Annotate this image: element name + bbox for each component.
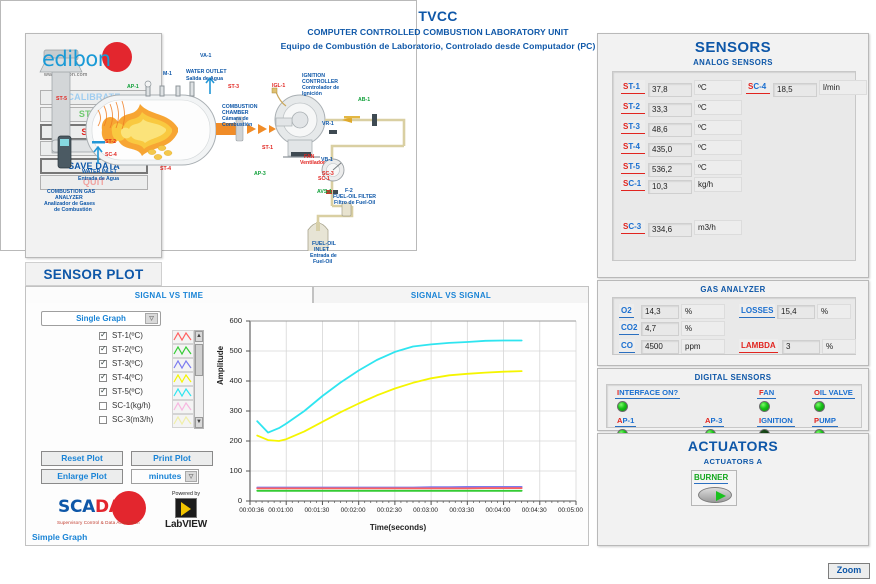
gas-value: 4500 bbox=[641, 340, 679, 354]
sensor-value: 536,2 bbox=[648, 163, 692, 177]
graph-mode-value: Single Graph bbox=[76, 314, 126, 323]
legend-label: ST-1(ºC) bbox=[112, 331, 143, 340]
tab-label: SIGNAL VS TIME bbox=[135, 291, 204, 300]
legend-row: ST-4(ºC) bbox=[71, 372, 194, 386]
scroll-down-icon[interactable]: ▼ bbox=[195, 417, 203, 428]
legend-scrollbar[interactable]: ▲ ▼ bbox=[194, 330, 204, 429]
simple-graph-label: Simple Graph bbox=[32, 532, 87, 542]
diagram-label: SC-1 bbox=[318, 177, 330, 183]
legend-label: ST-4(ºC) bbox=[112, 373, 143, 382]
actuators-title: ACTUATORS bbox=[598, 438, 868, 454]
labview-icon bbox=[175, 498, 197, 518]
plot-body: Single Graph ▽ ST-1(ºC)ST-2(ºC)ST-3(ºC)S… bbox=[25, 303, 589, 546]
diagram-label: VA-1 bbox=[200, 54, 211, 60]
sensor-value: 48,6 bbox=[648, 123, 692, 137]
gas-analyzer-title: GAS ANALYZER bbox=[598, 285, 868, 294]
sensor-unit: kg/h bbox=[694, 177, 742, 192]
sensor-value: 10,3 bbox=[648, 180, 692, 194]
diagram-label: IGL-1 bbox=[272, 84, 285, 90]
legend-checkbox[interactable] bbox=[99, 360, 107, 368]
chart-y-tick-label: 600 bbox=[222, 316, 242, 325]
diagram-label: M-1 bbox=[163, 72, 172, 78]
sensor-tag: ST-4 bbox=[621, 140, 645, 154]
gas-tag: O2 bbox=[619, 304, 634, 318]
chart-x-tick-label: 00:02:30 bbox=[377, 507, 402, 514]
sensor-value: 33,3 bbox=[648, 103, 692, 117]
diagram-label: VR-1 bbox=[322, 122, 334, 128]
tab-signal-vs-signal[interactable]: SIGNAL VS SIGNAL bbox=[313, 286, 589, 304]
plot-tabstrip: SIGNAL VS TIMESIGNAL VS SIGNAL bbox=[25, 286, 589, 304]
logo-wordmark: edibon bbox=[42, 47, 111, 71]
chart-canvas bbox=[214, 313, 582, 539]
sensor-value: 334,6 bbox=[648, 223, 692, 237]
chart-x-axis-label: Time(seconds) bbox=[214, 523, 582, 532]
digital-sensors-panel: DIGITAL SENSORS INTERFACE ON?FANOIL VALV… bbox=[597, 368, 869, 431]
chart-y-tick-label: 500 bbox=[222, 346, 242, 355]
enlarge-plot-button[interactable]: Enlarge Plot bbox=[41, 469, 123, 484]
sensor-unit: ºC bbox=[694, 80, 742, 95]
labview-name: LabVIEW bbox=[158, 519, 214, 530]
reset-plot-button[interactable]: Reset Plot bbox=[41, 451, 123, 466]
diagram-label: Combustión bbox=[222, 123, 252, 129]
sensor-value: 435,0 bbox=[648, 143, 692, 157]
gas-analyzer-panel: GAS ANALYZER O214,3%LOSSES15,4%CO24,7%CO… bbox=[597, 280, 869, 366]
legend-color-swatch[interactable] bbox=[172, 400, 194, 414]
actuators-panel: ACTUATORS ACTUATORS A BURNER bbox=[597, 433, 869, 546]
diagram-label: ST-4 bbox=[160, 167, 171, 173]
sensor-tag: ST-1 bbox=[621, 80, 645, 94]
diagram-label: ST-1 bbox=[262, 146, 273, 152]
diagram-label: de Combustión bbox=[54, 208, 92, 214]
chart-y-tick-label: 400 bbox=[222, 376, 242, 385]
digital-sensor-label: INTERFACE ON? bbox=[615, 387, 680, 399]
status-led bbox=[814, 401, 825, 412]
gas-unit-secondary: % bbox=[817, 304, 851, 319]
labview-powered-by: Powered by bbox=[158, 491, 214, 497]
digital-sensor-label: FAN bbox=[757, 387, 776, 399]
chart-x-tick-label: 00:04:30 bbox=[522, 507, 547, 514]
tab-signal-vs-time[interactable]: SIGNAL VS TIME bbox=[25, 286, 313, 304]
tab-label: SIGNAL VS SIGNAL bbox=[411, 291, 491, 300]
scrollbar-thumb[interactable] bbox=[195, 344, 203, 376]
sensor-tag: SC-4 bbox=[746, 80, 770, 94]
analog-sensors-group: ST-137,8ºCST-233,3ºCST-348,6ºCST-4435,0º… bbox=[612, 71, 856, 261]
sensor-tag: SC-1 bbox=[621, 177, 645, 191]
chart-x-tick-label: 00:03:00 bbox=[413, 507, 438, 514]
gas-unit: % bbox=[681, 321, 725, 336]
legend-row: ST-5(ºC) bbox=[71, 386, 194, 400]
process-diagram-panel: TVCC COMPUTER CONTROLLED COMBUSTION LABO… bbox=[0, 0, 417, 251]
print-plot-button[interactable]: Print Plot bbox=[131, 451, 213, 466]
legend-label: ST-3(ºC) bbox=[112, 359, 143, 368]
sensors-panel: SENSORS ANALOG SENSORS ST-137,8ºCST-233,… bbox=[597, 33, 869, 278]
chart-x-tick-label: 00:05:00 bbox=[558, 507, 583, 514]
sensor-plot-title: SENSOR PLOT bbox=[25, 262, 162, 286]
diagram-label: Filtro de Fuel-Oil bbox=[334, 201, 375, 207]
chevron-down-icon: ▽ bbox=[145, 313, 158, 324]
sensor-tag: ST-2 bbox=[621, 100, 645, 114]
gas-unit-secondary: % bbox=[822, 339, 856, 354]
time-units-select[interactable]: minutes ▽ bbox=[131, 469, 199, 484]
chart-y-tick-label: 0 bbox=[222, 496, 242, 505]
diagram-label: ST-5 bbox=[56, 97, 67, 103]
diagram-label: VB-1 bbox=[321, 158, 333, 164]
legend-checkbox[interactable] bbox=[99, 332, 107, 340]
digital-sensor-label: AP-1 bbox=[615, 415, 636, 427]
diagram-label: ST-2 bbox=[105, 140, 116, 146]
burner-label: BURNER bbox=[694, 472, 728, 484]
gas-unit: % bbox=[681, 304, 725, 319]
legend-color-swatch[interactable] bbox=[172, 372, 194, 386]
legend-label: ST-2(ºC) bbox=[112, 345, 143, 354]
legend-color-swatch[interactable] bbox=[172, 386, 194, 400]
legend-color-swatch[interactable] bbox=[172, 358, 194, 372]
diagram-label: AP-3 bbox=[254, 172, 266, 178]
legend-color-swatch[interactable] bbox=[172, 330, 194, 344]
legend-row: ST-1(ºC) bbox=[71, 330, 194, 344]
signal-vs-time-chart: Amplitude 0100200300400500600 00:00:3600… bbox=[214, 313, 582, 539]
diagram-label: AP-1 bbox=[127, 85, 139, 91]
sensor-unit: ºC bbox=[694, 140, 742, 155]
legend-row: SC-1(kg/h) bbox=[71, 400, 194, 414]
gas-value-secondary: 3 bbox=[782, 340, 820, 354]
sensor-unit: m3/h bbox=[694, 220, 742, 235]
diagram-label: SC-4 bbox=[105, 153, 117, 159]
burner-toggle[interactable]: BURNER bbox=[691, 470, 737, 506]
burner-knob[interactable] bbox=[698, 487, 732, 503]
status-led bbox=[617, 401, 628, 412]
graph-mode-select[interactable]: Single Graph ▽ bbox=[41, 311, 161, 326]
actuators-subtitle: ACTUATORS A bbox=[598, 457, 868, 466]
legend-label: ST-5(ºC) bbox=[112, 387, 143, 396]
legend-color-swatch[interactable] bbox=[172, 344, 194, 358]
sensor-tag: SC-3 bbox=[621, 220, 645, 234]
digital-sensors-title: DIGITAL SENSORS bbox=[598, 373, 868, 382]
sensor-unit: l/min bbox=[819, 80, 867, 95]
chevron-down-icon: ▽ bbox=[185, 471, 197, 482]
legend-row: SC-3(m3/h) bbox=[71, 414, 194, 428]
chart-x-tick-label: 00:01:00 bbox=[268, 507, 293, 514]
scroll-up-icon[interactable]: ▲ bbox=[195, 331, 203, 342]
chart-x-tick-label: 00:04:00 bbox=[486, 507, 511, 514]
gas-tag: CO2 bbox=[619, 321, 639, 335]
legend-checkbox[interactable] bbox=[99, 346, 107, 354]
legend-row: ST-3(ºC) bbox=[71, 358, 194, 372]
zoom-button[interactable]: Zoom bbox=[828, 563, 870, 579]
labview-logo: Powered by LabVIEW bbox=[158, 491, 214, 539]
legend-checkbox[interactable] bbox=[99, 416, 107, 424]
scada-wordmark: SCADA bbox=[58, 497, 122, 517]
chart-y-tick-label: 100 bbox=[222, 466, 242, 475]
chart-y-tick-label: 200 bbox=[222, 436, 242, 445]
chart-x-tick-label: 00:03:30 bbox=[449, 507, 474, 514]
legend-label: SC-1(kg/h) bbox=[112, 401, 151, 410]
digital-sensor-label: IGNITION bbox=[757, 415, 795, 427]
gas-tag-secondary: LAMBDA bbox=[739, 339, 778, 353]
sensor-tag: ST-3 bbox=[621, 120, 645, 134]
chart-x-tick-label: 00:02:00 bbox=[341, 507, 366, 514]
diagram-label: Salida de Agua bbox=[186, 77, 223, 83]
digital-sensor-label: AP-3 bbox=[703, 415, 724, 427]
gas-unit: ppm bbox=[681, 339, 725, 354]
status-led bbox=[759, 401, 770, 412]
diagram-label: AB-1 bbox=[358, 98, 370, 104]
diagram-label: Ignición bbox=[302, 92, 322, 98]
gas-tag: CO bbox=[619, 339, 635, 353]
analog-sensors-subtitle: ANALOG SENSORS bbox=[598, 58, 868, 67]
sensor-tag: ST-5 bbox=[621, 160, 645, 174]
scada-tagline: Supervisory Control & Data Acquisition bbox=[57, 520, 140, 525]
sensors-title: SENSORS bbox=[598, 39, 868, 56]
time-units-value: minutes bbox=[149, 471, 182, 481]
sensor-value: 18,5 bbox=[773, 83, 817, 97]
digital-sensor-label: PUMP bbox=[812, 415, 838, 427]
gas-tag-secondary: LOSSES bbox=[739, 304, 775, 318]
legend-checkbox[interactable] bbox=[99, 402, 107, 410]
sensor-unit: ºC bbox=[694, 100, 742, 115]
diagram-label: Entrada de Agua bbox=[78, 177, 119, 183]
legend-checkbox[interactable] bbox=[99, 374, 107, 382]
digital-sensor-label: OIL VALVE bbox=[812, 387, 855, 399]
legend-row: ST-2(ºC) bbox=[71, 344, 194, 358]
chart-y-tick-label: 300 bbox=[222, 406, 242, 415]
digital-sensors-group: INTERFACE ON?FANOIL VALVEAP-1AP-3IGNITIO… bbox=[606, 384, 862, 428]
scada-application-window: edibon www.edibon.com CALIBRATESTARTSTOP… bbox=[0, 0, 876, 584]
gas-value-secondary: 15,4 bbox=[777, 305, 815, 319]
gas-value: 4,7 bbox=[641, 322, 679, 336]
gas-value: 14,3 bbox=[641, 305, 679, 319]
legend-color-swatch[interactable] bbox=[172, 414, 194, 428]
legend-checkbox[interactable] bbox=[99, 388, 107, 396]
sensor-unit: ºC bbox=[694, 120, 742, 135]
diagram-label: AVS-1 bbox=[317, 190, 332, 196]
series-legend: ST-1(ºC)ST-2(ºC)ST-3(ºC)ST-4(ºC)ST-5(ºC)… bbox=[71, 330, 194, 429]
chart-x-tick-label: 00:00:36 bbox=[239, 507, 264, 514]
diagram-label: Fuel-Oil bbox=[313, 260, 332, 266]
sensor-value: 37,8 bbox=[648, 83, 692, 97]
diagram-label: ST-3 bbox=[228, 85, 239, 91]
legend-label: SC-3(m3/h) bbox=[112, 415, 153, 424]
sensor-unit: ºC bbox=[694, 160, 742, 175]
gas-analyzer-group: O214,3%LOSSES15,4%CO24,7%CO4500ppmLAMBDA… bbox=[612, 297, 856, 355]
chart-x-tick-label: 00:01:30 bbox=[304, 507, 329, 514]
